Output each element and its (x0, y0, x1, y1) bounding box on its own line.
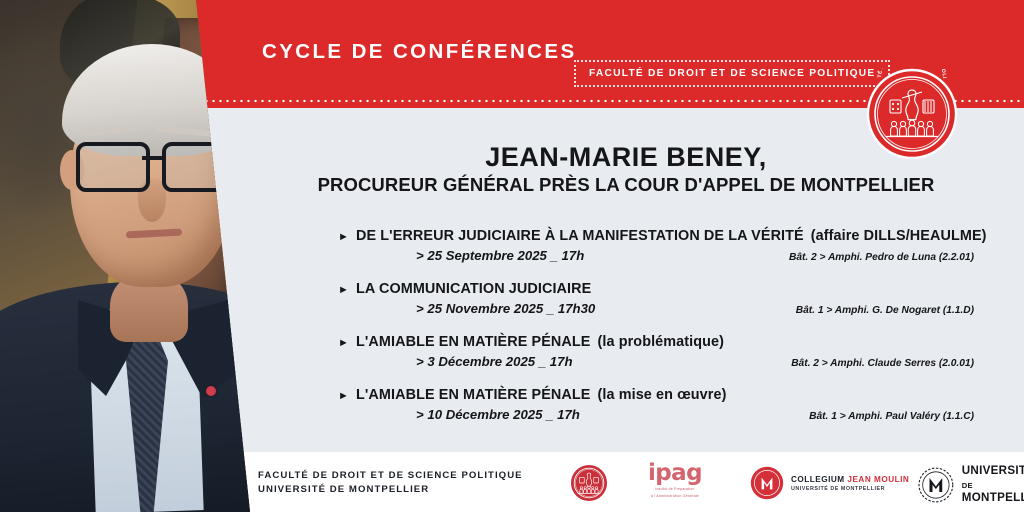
faculty-seal-logo (570, 464, 608, 502)
faculty-seal-icon (570, 464, 608, 502)
session-date: > 3 Décembre 2025 _ 17h (416, 354, 573, 369)
session-title-row: ► L'AMIABLE EN MATIÈRE PÉNALE (la mise e… (256, 387, 996, 403)
ipag-subtitle-2: à l'Administration Générale (648, 494, 702, 499)
session-venue: Bât. 2 > Amphi. Pedro de Luna (2.2.01) (789, 252, 974, 263)
glasses-lens-left (76, 142, 150, 192)
session-venue: Bât. 1 > Amphi. G. De Nogaret (1.1.D) (796, 305, 974, 316)
session-title: LA COMMUNICATION JUDICIAIRE (356, 281, 591, 297)
session-title-row: ► LA COMMUNICATION JUDICIAIRE (256, 281, 996, 297)
footer-logo-row: ipag Institut de Préparation à l'Adminis… (570, 458, 1010, 512)
bullet-arrow-icon: ► (338, 338, 349, 349)
footer-line-2: UNIVERSITÉ DE MONTPELLIER (258, 483, 523, 497)
portrait-lapel-pin (206, 386, 216, 396)
session-title-suffix: (la mise en œuvre) (598, 387, 727, 403)
session-item[interactable]: ► L'AMIABLE EN MATIÈRE PÉNALE (la problé… (256, 334, 996, 387)
speaker-block: JEAN-MARIE BENEY, PROCUREUR GÉNÉRAL PRÈS… (256, 142, 996, 196)
ipag-subtitle-1: Institut de Préparation (648, 487, 702, 492)
session-title-row: ► DE L'ERREUR JUDICIAIRE À LA MANIFESTAT… (256, 228, 996, 244)
bullet-arrow-icon: ► (338, 232, 349, 243)
um-line-2: MONTPELLIER (962, 491, 1024, 505)
session-meta: > 25 Novembre 2025 _ 17h30 Bât. 1 > Amph… (256, 301, 996, 316)
bullet-arrow-icon: ► (338, 285, 349, 296)
session-meta: > 25 Septembre 2025 _ 17h Bât. 2 > Amphi… (256, 248, 996, 263)
collegium-jean-moulin-logo: COLLEGIUM JEAN MOULIN UNIVERSITÉ DE MONT… (750, 466, 909, 500)
cycle-title: CYCLE DE CONFÉRENCES (262, 40, 577, 64)
session-title-suffix: (la problématique) (598, 334, 725, 350)
session-title-suffix: (affaire DILLS/HEAULME) (811, 228, 987, 244)
universite-montpellier-m-icon (918, 467, 954, 503)
session-venue: Bât. 2 > Amphi. Claude Serres (2.0.01) (791, 358, 974, 369)
session-date: > 25 Novembre 2025 _ 17h30 (416, 301, 595, 316)
session-title: DE L'ERREUR JUDICIAIRE À LA MANIFESTATIO… (356, 228, 804, 244)
um-line-1: UNIVERSITÉ DE (962, 464, 1024, 491)
collegium-text: COLLEGIUM JEAN MOULIN UNIVERSITÉ DE MONT… (791, 474, 909, 491)
speaker-role: PROCUREUR GÉNÉRAL PRÈS LA COUR D'APPEL D… (256, 174, 996, 196)
conference-poster: CYCLE DE CONFÉRENCES FACULTÉ DE DROIT ET… (0, 0, 1024, 512)
collegium-subtitle: UNIVERSITÉ DE MONTPELLIER (791, 486, 909, 492)
ipag-logo: ipag Institut de Préparation à l'Adminis… (648, 462, 702, 499)
session-title: L'AMIABLE EN MATIÈRE PÉNALE (356, 387, 591, 403)
faculty-badge: FACULTÉ DE DROIT ET DE SCIENCE POLITIQUE (574, 60, 890, 87)
session-venue: Bât. 1 > Amphi. Paul Valéry (1.1.C) (809, 411, 974, 422)
session-list: ► DE L'ERREUR JUDICIAIRE À LA MANIFESTAT… (256, 228, 996, 440)
portrait-glasses (74, 142, 234, 186)
footer-organisation: FACULTÉ DE DROIT ET DE SCIENCE POLITIQUE… (258, 469, 523, 498)
session-item[interactable]: ► LA COMMUNICATION JUDICIAIRE > 25 Novem… (256, 281, 996, 334)
collegium-m-icon (750, 466, 784, 500)
universite-montpellier-logo: UNIVERSITÉ DE MONTPELLIER (918, 464, 1024, 505)
footer-line-1: FACULTÉ DE DROIT ET DE SCIENCE POLITIQUE (258, 469, 523, 483)
session-item[interactable]: ► L'AMIABLE EN MATIÈRE PÉNALE (la mise e… (256, 387, 996, 440)
bullet-arrow-icon: ► (338, 391, 349, 402)
session-item[interactable]: ► DE L'ERREUR JUDICIAIRE À LA MANIFESTAT… (256, 228, 996, 281)
session-title: L'AMIABLE EN MATIÈRE PÉNALE (356, 334, 591, 350)
session-title-row: ► L'AMIABLE EN MATIÈRE PÉNALE (la problé… (256, 334, 996, 350)
glasses-bridge (142, 156, 164, 160)
session-meta: > 3 Décembre 2025 _ 17h Bât. 2 > Amphi. … (256, 354, 996, 369)
ipag-wordmark: ipag (648, 462, 702, 485)
collegium-title: COLLEGIUM JEAN MOULIN (791, 474, 909, 485)
session-date: > 10 Décembre 2025 _ 17h (416, 407, 580, 422)
um-wordmark: UNIVERSITÉ DE MONTPELLIER (962, 464, 1024, 505)
session-date: > 25 Septembre 2025 _ 17h (416, 248, 584, 263)
session-meta: > 10 Décembre 2025 _ 17h Bât. 1 > Amphi.… (256, 407, 996, 422)
speaker-name: JEAN-MARIE BENEY, (256, 142, 996, 172)
